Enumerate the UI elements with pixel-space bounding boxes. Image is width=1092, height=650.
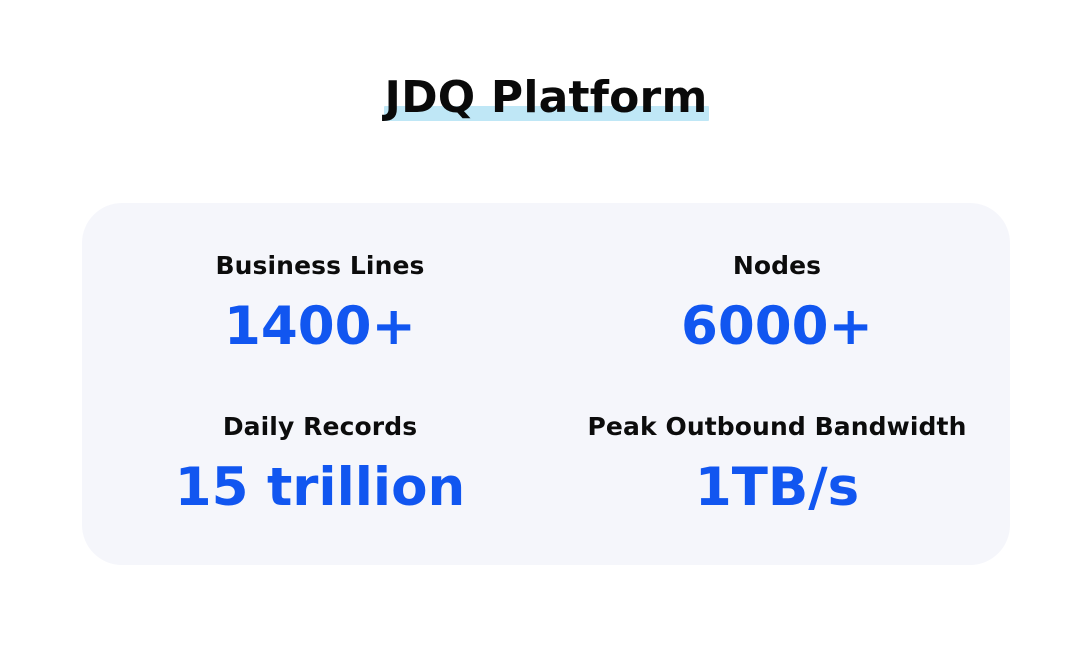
- stat-value: 1400+: [100, 295, 540, 359]
- stats-card: Business Lines 1400+ Nodes 6000+ Daily R…: [82, 203, 1010, 565]
- stat-peak-outbound-bandwidth: Peak Outbound Bandwidth 1TB/s: [545, 413, 1009, 519]
- page-title: JDQ Platform: [383, 72, 710, 125]
- stat-label: Peak Outbound Bandwidth: [557, 413, 997, 442]
- stat-business-lines: Business Lines 1400+: [88, 252, 552, 358]
- stat-nodes: Nodes 6000+: [545, 252, 1009, 358]
- stat-label: Daily Records: [100, 413, 540, 442]
- page-title-text: JDQ Platform: [385, 72, 708, 123]
- stat-value: 6000+: [557, 295, 997, 359]
- page-root: JDQ Platform Business Lines 1400+ Nodes …: [0, 0, 1092, 650]
- stats-grid: Business Lines 1400+ Nodes 6000+ Daily R…: [82, 203, 1010, 565]
- stat-value: 1TB/s: [557, 456, 997, 520]
- page-title-container: JDQ Platform: [0, 72, 1092, 125]
- stat-label: Nodes: [557, 252, 997, 281]
- stat-label: Business Lines: [100, 252, 540, 281]
- stat-value: 15 trillion: [100, 456, 540, 520]
- stat-daily-records: Daily Records 15 trillion: [88, 413, 552, 519]
